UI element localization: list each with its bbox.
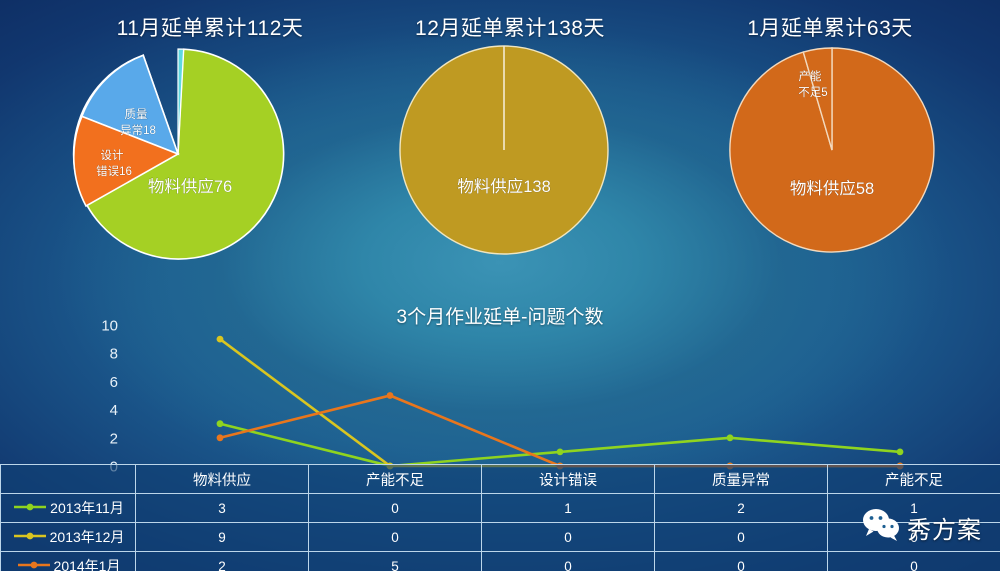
legend-marker-3 [17, 559, 51, 571]
table-cell: 2 [136, 552, 309, 571]
table-header-row: 物料供应产能不足设计错误质量异常产能不足 [1, 465, 1000, 494]
table-cell: 1 [828, 494, 1000, 523]
table-header-2: 产能不足 [309, 465, 482, 494]
legend-item-2[interactable]: 2013年12月 [1, 523, 136, 552]
pie1-label-material-supply: 物料供应76 [148, 177, 232, 196]
table-cell: 0 [309, 523, 482, 552]
legend-item-1[interactable]: 2013年11月 [1, 494, 136, 523]
legend-label-2: 2013年12月 [50, 527, 125, 547]
pie1-label-quality-line1: 质量 [125, 108, 148, 121]
legend-label-3: 2014年1月 [54, 556, 121, 571]
pie1-label-design-line1: 设计 [101, 149, 124, 162]
y-axis-tick-2: 2 [110, 430, 118, 447]
data-point [387, 392, 394, 399]
line-path-3 [220, 396, 900, 467]
pie-chart-january: 产能 不足5 物料供应58 [728, 46, 936, 254]
y-axis-tick-8: 8 [110, 346, 118, 363]
pie-chart-november: 质量 异常18 设计 错误16 物料供应76 [70, 46, 286, 262]
legend-marker-2 [13, 530, 47, 545]
table-cell: 0 [482, 552, 655, 571]
table-header-4: 质量异常 [655, 465, 828, 494]
legend-label-1: 2013年11月 [50, 498, 124, 518]
slide-canvas: 11月延单累计112天 12月延单累计138天 1月延单累计63天 质量 异常1… [0, 0, 1000, 571]
table-corner-cell [1, 465, 136, 494]
pie2-label-material-supply: 物料供应138 [457, 177, 551, 196]
pie-chart-december: 物料供应138 [398, 44, 610, 256]
line-path-2 [220, 339, 900, 466]
pie3-label-capacity-line1: 产能 [799, 69, 822, 83]
table-cell: 0 [482, 523, 655, 552]
pie1-label-quality-line2: 异常18 [120, 124, 156, 137]
line-path-1 [220, 424, 900, 466]
data-point [217, 420, 224, 427]
table-cell: 0 [309, 494, 482, 523]
table-cell: 2 [655, 494, 828, 523]
pie3-label-material-supply: 物料供应58 [790, 179, 874, 198]
table-row: 2013年11月30121 [1, 494, 1000, 523]
table-cell: 9 [136, 523, 309, 552]
y-axis-tick-4: 4 [110, 402, 118, 419]
legend-marker-1 [13, 501, 47, 516]
data-point [897, 449, 904, 456]
table-cell: 3 [136, 494, 309, 523]
line-series-3 [217, 392, 904, 469]
data-table-area: 物料供应产能不足设计错误质量异常产能不足2013年11月301212013年12… [0, 464, 1000, 571]
table-row: 2013年12月90000 [1, 523, 1000, 552]
pie-title-november: 11月延单累计112天 [60, 12, 360, 42]
data-table: 物料供应产能不足设计错误质量异常产能不足2013年11月301212013年12… [0, 464, 1000, 571]
table-cell: 0 [828, 552, 1000, 571]
line-series-1 [217, 420, 904, 469]
table-cell: 0 [655, 552, 828, 571]
data-point [217, 434, 224, 441]
table-cell: 0 [828, 523, 1000, 552]
data-point [217, 336, 224, 343]
pie-title-january: 1月延单累计63天 [680, 12, 980, 42]
pie1-label-design-line2: 错误16 [96, 164, 132, 178]
table-row: 2014年1月25000 [1, 552, 1000, 571]
table-cell: 1 [482, 494, 655, 523]
data-point [727, 434, 734, 441]
data-point [557, 449, 564, 456]
y-axis-tick-10: 10 [101, 318, 118, 335]
table-header-5: 产能不足 [828, 465, 1000, 494]
table-cell: 0 [655, 523, 828, 552]
legend-item-3[interactable]: 2014年1月 [1, 552, 136, 571]
pie3-label-capacity-line2: 不足5 [798, 87, 827, 99]
pie-title-december: 12月延单累计138天 [360, 12, 660, 42]
table-header-3: 设计错误 [482, 465, 655, 494]
y-axis-tick-6: 6 [110, 374, 118, 391]
table-header-1: 物料供应 [136, 465, 309, 494]
line-chart: 0246810 [0, 290, 1000, 475]
table-cell: 5 [309, 552, 482, 571]
